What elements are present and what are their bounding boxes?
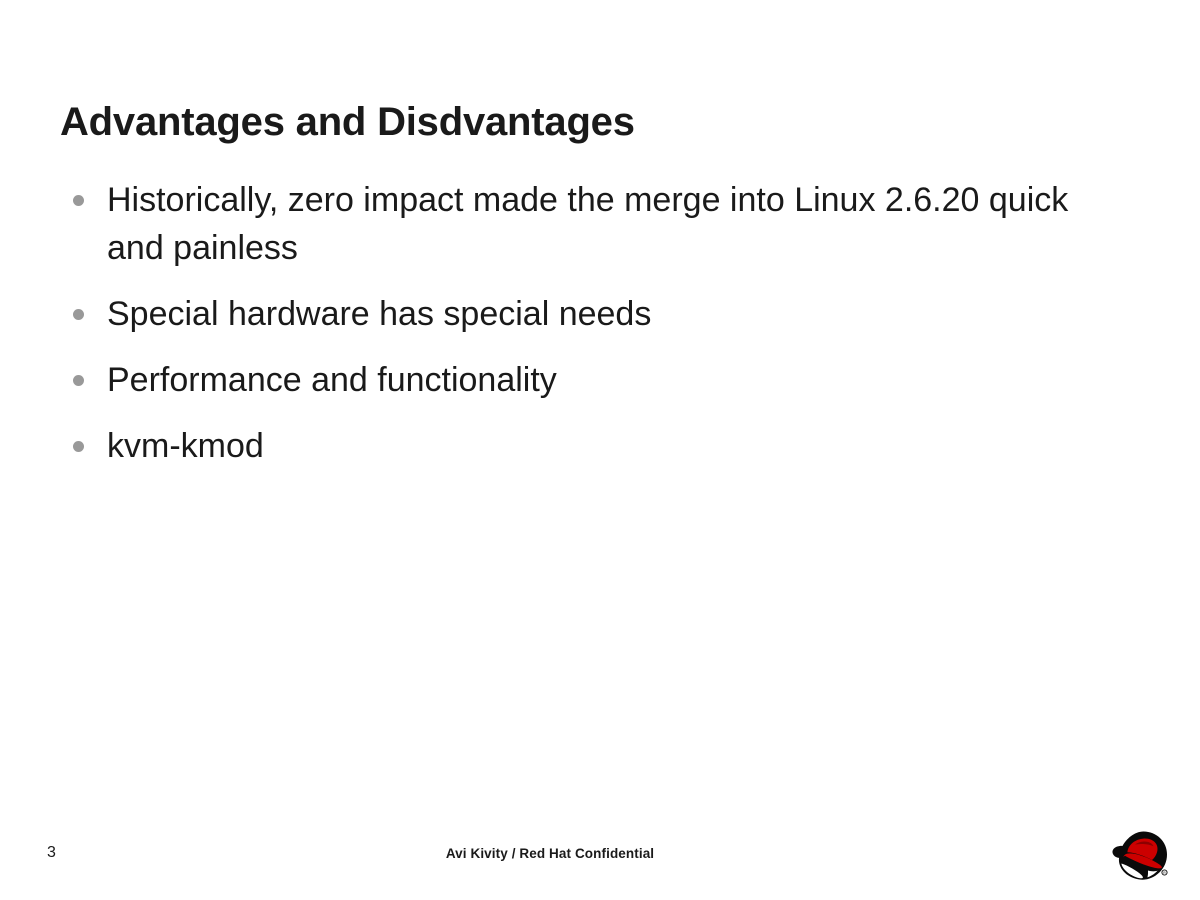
bullet-dot-icon (73, 441, 84, 452)
list-item: Historically, zero impact made the merge… (60, 176, 1080, 272)
list-item-label: Historically, zero impact made the merge… (107, 176, 1080, 272)
list-item: kvm-kmod (60, 422, 1080, 470)
red-hat-shadowman-logo: R (1110, 830, 1176, 886)
bullet-list: Historically, zero impact made the merge… (60, 176, 1080, 470)
bullet-dot-icon (73, 375, 84, 386)
list-item: Performance and functionality (60, 356, 1080, 404)
footer-confidentiality-note: Avi Kivity / Red Hat Confidential (0, 846, 1100, 861)
list-item-label: kvm-kmod (107, 422, 1080, 470)
list-item-label: Performance and functionality (107, 356, 1080, 404)
list-item: Special hardware has special needs (60, 290, 1080, 338)
bullet-dot-icon (73, 309, 84, 320)
slide-footer: 3 Avi Kivity / Red Hat Confidential (0, 828, 1200, 900)
bullet-dot-icon (73, 195, 84, 206)
list-item-label: Special hardware has special needs (107, 290, 1080, 338)
page-title: Advantages and Disdvantages (60, 99, 1140, 145)
slide-canvas: Advantages and Disdvantages Historically… (0, 0, 1200, 900)
